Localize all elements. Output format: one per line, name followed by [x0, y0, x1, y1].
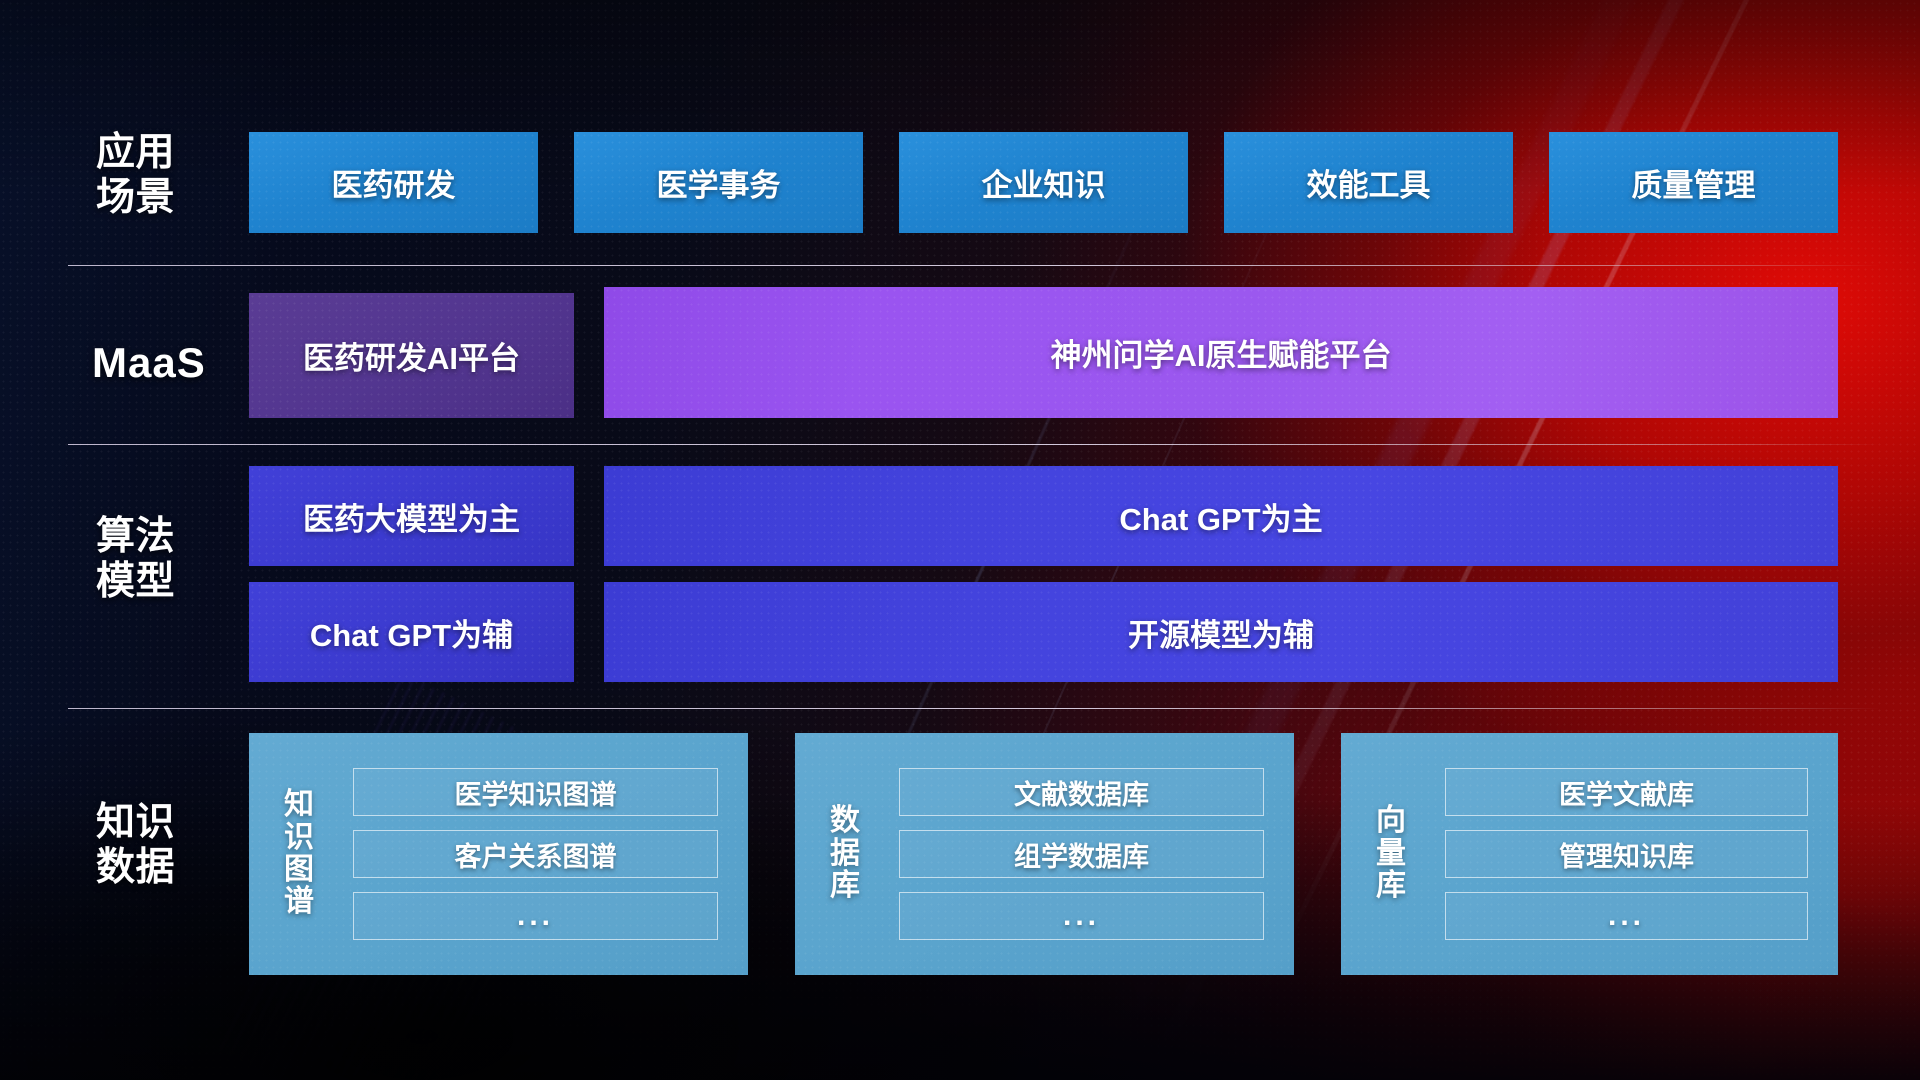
architecture-diagram: 应用 场景 医药研发 医学事务 企业知识 效能工具 质量管理 MaaS 医药研发… [0, 0, 1920, 1080]
divider-maas-algorithm [68, 444, 1880, 445]
app-box-enterprise-knowledge-label: 企业知识 [982, 160, 1106, 205]
knowledge-panel-vector-store-items: 医学文献库 管理知识库 ... [1445, 768, 1808, 940]
row-label-maas: MaaS [92, 339, 262, 388]
app-box-quality-management-label: 质量管理 [1632, 160, 1756, 205]
maas-box-shenzhou-wenxue-platform[interactable]: 神州问学AI原生赋能平台 [604, 287, 1838, 418]
maas-box-drug-rnd-ai-platform[interactable]: 医药研发AI平台 [249, 293, 574, 418]
maas-box-drug-rnd-ai-platform-label: 医药研发AI平台 [303, 333, 520, 378]
app-box-quality-management[interactable]: 质量管理 [1549, 132, 1838, 233]
knowledge-item-omics-database[interactable]: 组学数据库 [899, 830, 1264, 878]
maas-box-shenzhou-wenxue-platform-label: 神州问学AI原生赋能平台 [1051, 330, 1392, 375]
algo-box-drug-llm-primary-label: 医药大模型为主 [303, 494, 520, 539]
knowledge-item-management-knowledge-store[interactable]: 管理知识库 [1445, 830, 1808, 878]
row-label-algorithm-model: 算法 模型 [96, 514, 246, 604]
app-box-medical-affairs-label: 医学事务 [657, 160, 781, 205]
knowledge-item-more-database[interactable]: ... [899, 892, 1264, 940]
knowledge-panel-database-items: 文献数据库 组学数据库 ... [899, 768, 1264, 940]
knowledge-panel-knowledge-graph[interactable]: 知 识 图 谱 医学知识图谱 客户关系图谱 ... [249, 733, 748, 975]
knowledge-item-customer-relationship-graph[interactable]: 客户关系图谱 [353, 830, 718, 878]
app-box-efficiency-tools[interactable]: 效能工具 [1224, 132, 1513, 233]
app-box-efficiency-tools-label: 效能工具 [1307, 160, 1431, 205]
app-box-drug-rnd[interactable]: 医药研发 [249, 132, 538, 233]
knowledge-panel-knowledge-graph-items: 医学知识图谱 客户关系图谱 ... [353, 768, 718, 940]
knowledge-panel-database[interactable]: 数 据 库 文献数据库 组学数据库 ... [795, 733, 1294, 975]
algo-box-opensource-secondary-label: 开源模型为辅 [1128, 610, 1314, 655]
row-label-knowledge-data: 知识 数据 [96, 800, 246, 890]
algo-box-drug-llm-primary[interactable]: 医药大模型为主 [249, 466, 574, 566]
divider-application-maas [68, 265, 1880, 266]
row-label-application-scenario: 应用 场景 [96, 130, 246, 220]
knowledge-item-more-vector[interactable]: ... [1445, 892, 1808, 940]
algo-box-chatgpt-primary[interactable]: Chat GPT为主 [604, 466, 1838, 566]
knowledge-item-more-graph[interactable]: ... [353, 892, 718, 940]
algo-box-opensource-secondary[interactable]: 开源模型为辅 [604, 582, 1838, 682]
app-box-medical-affairs[interactable]: 医学事务 [574, 132, 863, 233]
knowledge-panel-vector-store-title: 向 量 库 [1359, 805, 1423, 902]
knowledge-item-medical-knowledge-graph[interactable]: 医学知识图谱 [353, 768, 718, 816]
knowledge-panel-vector-store[interactable]: 向 量 库 医学文献库 管理知识库 ... [1341, 733, 1838, 975]
knowledge-item-literature-database[interactable]: 文献数据库 [899, 768, 1264, 816]
app-box-enterprise-knowledge[interactable]: 企业知识 [899, 132, 1188, 233]
algo-box-chatgpt-primary-label: Chat GPT为主 [1119, 494, 1322, 539]
knowledge-panel-database-title: 数 据 库 [813, 805, 877, 902]
app-box-drug-rnd-label: 医药研发 [332, 160, 456, 205]
knowledge-panel-knowledge-graph-title: 知 识 图 谱 [267, 789, 331, 919]
knowledge-item-medical-literature-store[interactable]: 医学文献库 [1445, 768, 1808, 816]
divider-algorithm-knowledge [68, 708, 1880, 709]
algo-box-chatgpt-secondary[interactable]: Chat GPT为辅 [249, 582, 574, 682]
algo-box-chatgpt-secondary-label: Chat GPT为辅 [310, 610, 513, 655]
